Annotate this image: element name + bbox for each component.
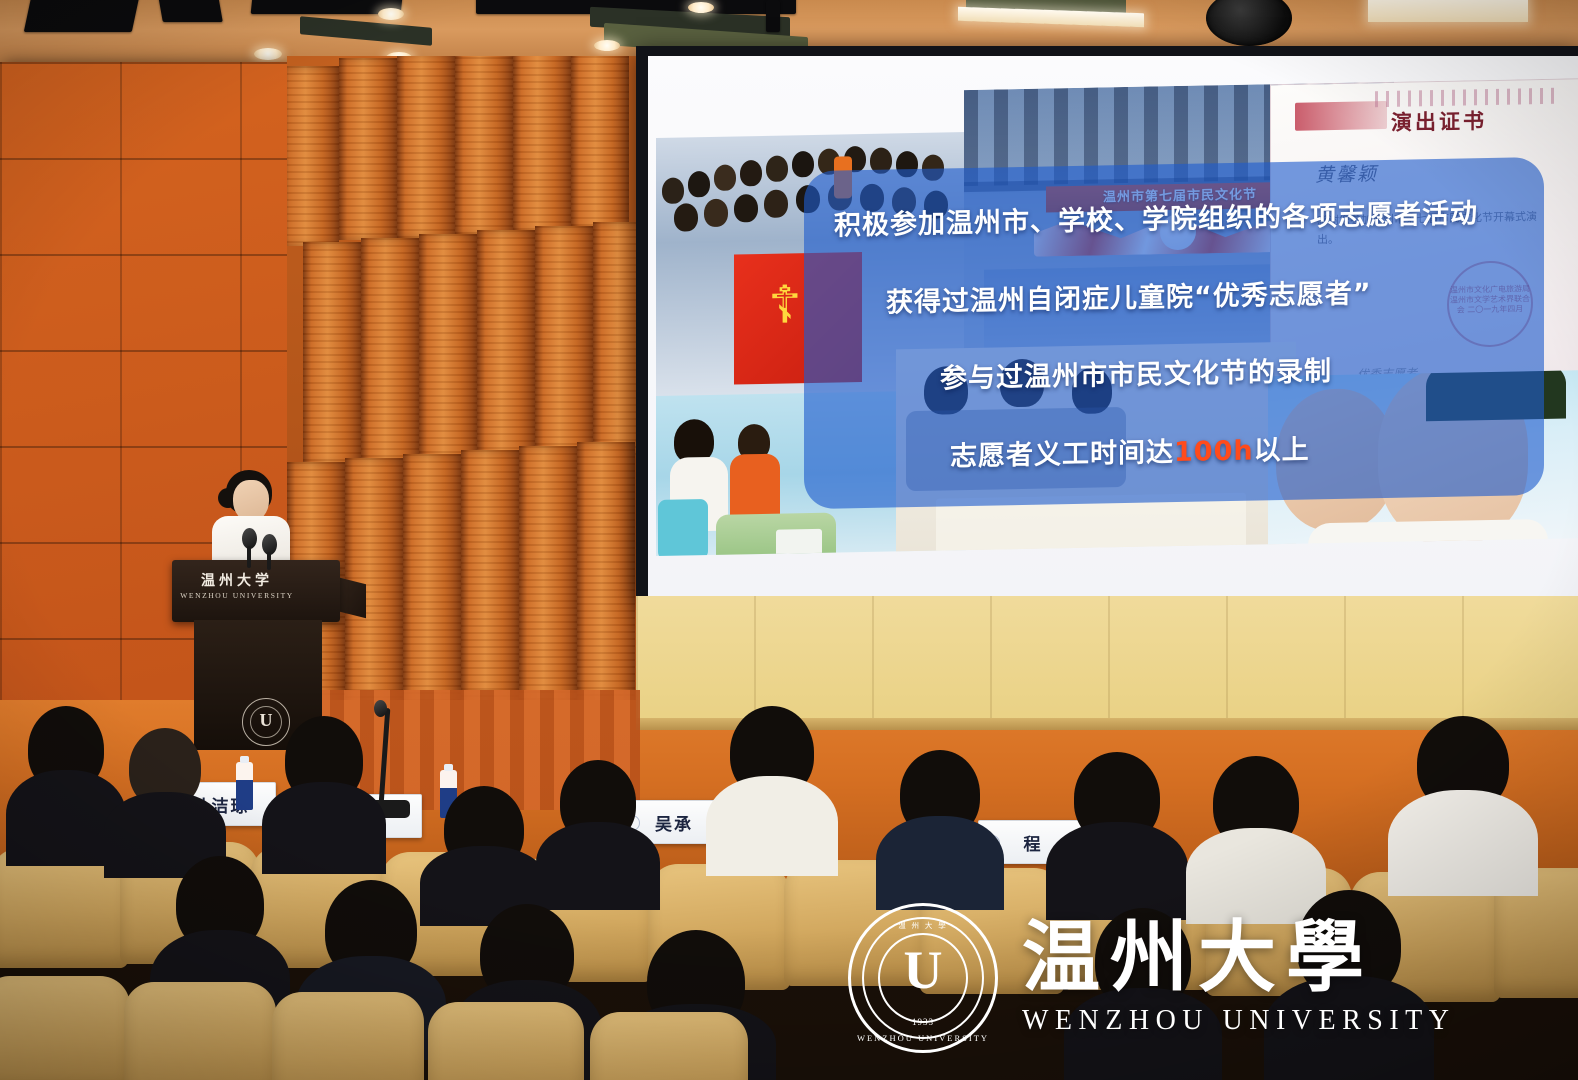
slide-line-4-suffix: 以上 <box>1254 434 1310 466</box>
auditorium-photo: 优良学风班学习标兵评选活动 2019 - 2020 学年 <box>0 0 1578 1080</box>
wood-panel <box>461 450 519 716</box>
wood-acoustic-panels <box>287 56 643 716</box>
slide-line-4-prefix: 志愿者义工时间达 <box>950 437 1174 472</box>
auditorium-seat <box>272 992 424 1080</box>
auditorium-seat <box>428 1002 584 1080</box>
wood-panel <box>303 242 361 466</box>
watermark-name-en: WENZHOU UNIVERSITY <box>1022 1005 1456 1037</box>
wood-panel <box>287 66 339 246</box>
slide-line-4-highlight: 100h <box>1174 435 1254 468</box>
wood-panel <box>477 230 535 460</box>
ceiling-light-bar <box>1368 0 1528 22</box>
wood-panel <box>577 442 635 712</box>
podium-microphone-stem <box>247 546 251 568</box>
certificate-decoration <box>1375 88 1555 107</box>
university-seal-icon: 温 州 大 學 U 1933 WENZHOU UNIVERSITY <box>848 903 998 1053</box>
auditorium-seat <box>124 982 276 1080</box>
seal-arc-top: 温 州 大 學 <box>848 920 998 931</box>
wood-panel <box>571 56 629 232</box>
table-microphone-head <box>374 700 387 717</box>
audience-person <box>876 750 1004 910</box>
auditorium-seat <box>590 1012 748 1080</box>
podium-microphone-stem <box>267 552 271 570</box>
wood-panel <box>519 446 577 714</box>
water-bottle <box>236 762 253 810</box>
placard-name: 吴承 <box>655 810 693 835</box>
watermark-text: 温州大學 WENZHOU UNIVERSITY <box>1022 919 1456 1037</box>
ceiling-fan <box>1206 0 1292 46</box>
person-shoulders <box>536 822 660 910</box>
person-shoulders <box>1388 790 1538 896</box>
ceiling-panel <box>24 0 141 32</box>
audience-person <box>536 760 660 910</box>
wood-panel <box>513 56 571 234</box>
slide-line-3: 参与过温州市市民文化节的录制 <box>804 345 1544 398</box>
podium-name-en: WENZHOU UNIVERSITY <box>176 591 298 600</box>
wood-panel <box>455 56 513 236</box>
ceiling-downlight <box>594 40 620 51</box>
seal-arc-bottom: WENZHOU UNIVERSITY <box>848 1033 998 1043</box>
stage-rigging <box>300 16 432 46</box>
wood-panel <box>361 238 419 464</box>
presentation-slide: ☦ 温州市第七届市民文化节 演出证书 黄馨颖 感谢您参加温州市第七届市民文化节开… <box>656 78 1578 556</box>
wood-panel <box>403 454 461 716</box>
ceiling-panel <box>766 0 780 32</box>
auditorium-seat <box>0 976 130 1080</box>
ceiling-downlight <box>254 48 282 60</box>
certificate-org-logo <box>1295 101 1387 131</box>
wood-panel <box>339 58 397 240</box>
slide-line-4: 志愿者义工时间达100h以上 <box>804 423 1544 476</box>
ceiling-panel <box>157 0 223 22</box>
seal-letter: U <box>848 943 998 997</box>
wood-panel <box>397 56 455 238</box>
audience-person <box>1388 716 1538 896</box>
audience-person <box>262 716 386 874</box>
university-watermark: 温 州 大 學 U 1933 WENZHOU UNIVERSITY 温州大學 W… <box>848 888 1568 1068</box>
slide-line-1: 积极参加温州市、学校、学院组织的各项志愿者活动 <box>804 190 1544 243</box>
seal-year: 1933 <box>848 1017 998 1027</box>
ceiling-downlight <box>688 2 714 13</box>
audience-person <box>706 706 838 876</box>
podium-front-panel: 温州大学 WENZHOU UNIVERSITY <box>172 560 340 622</box>
ceiling-downlight <box>378 8 404 20</box>
wood-panel <box>535 226 593 458</box>
placard-name: 程 <box>1024 830 1043 855</box>
wood-panel <box>419 234 477 462</box>
watermark-name-cn: 温州大學 <box>1022 919 1456 997</box>
certificate-title: 演出证书 <box>1391 105 1487 137</box>
person-shoulders <box>706 776 838 876</box>
slide-text-lines: 积极参加温州市、学校、学院组织的各项志愿者活动 获得过温州自闭症儿童院“优秀志愿… <box>804 157 1544 509</box>
slide-line-2: 获得过温州自闭症儿童院“优秀志愿者” <box>804 268 1544 321</box>
podium-name-cn: 温州大学 <box>182 570 292 590</box>
